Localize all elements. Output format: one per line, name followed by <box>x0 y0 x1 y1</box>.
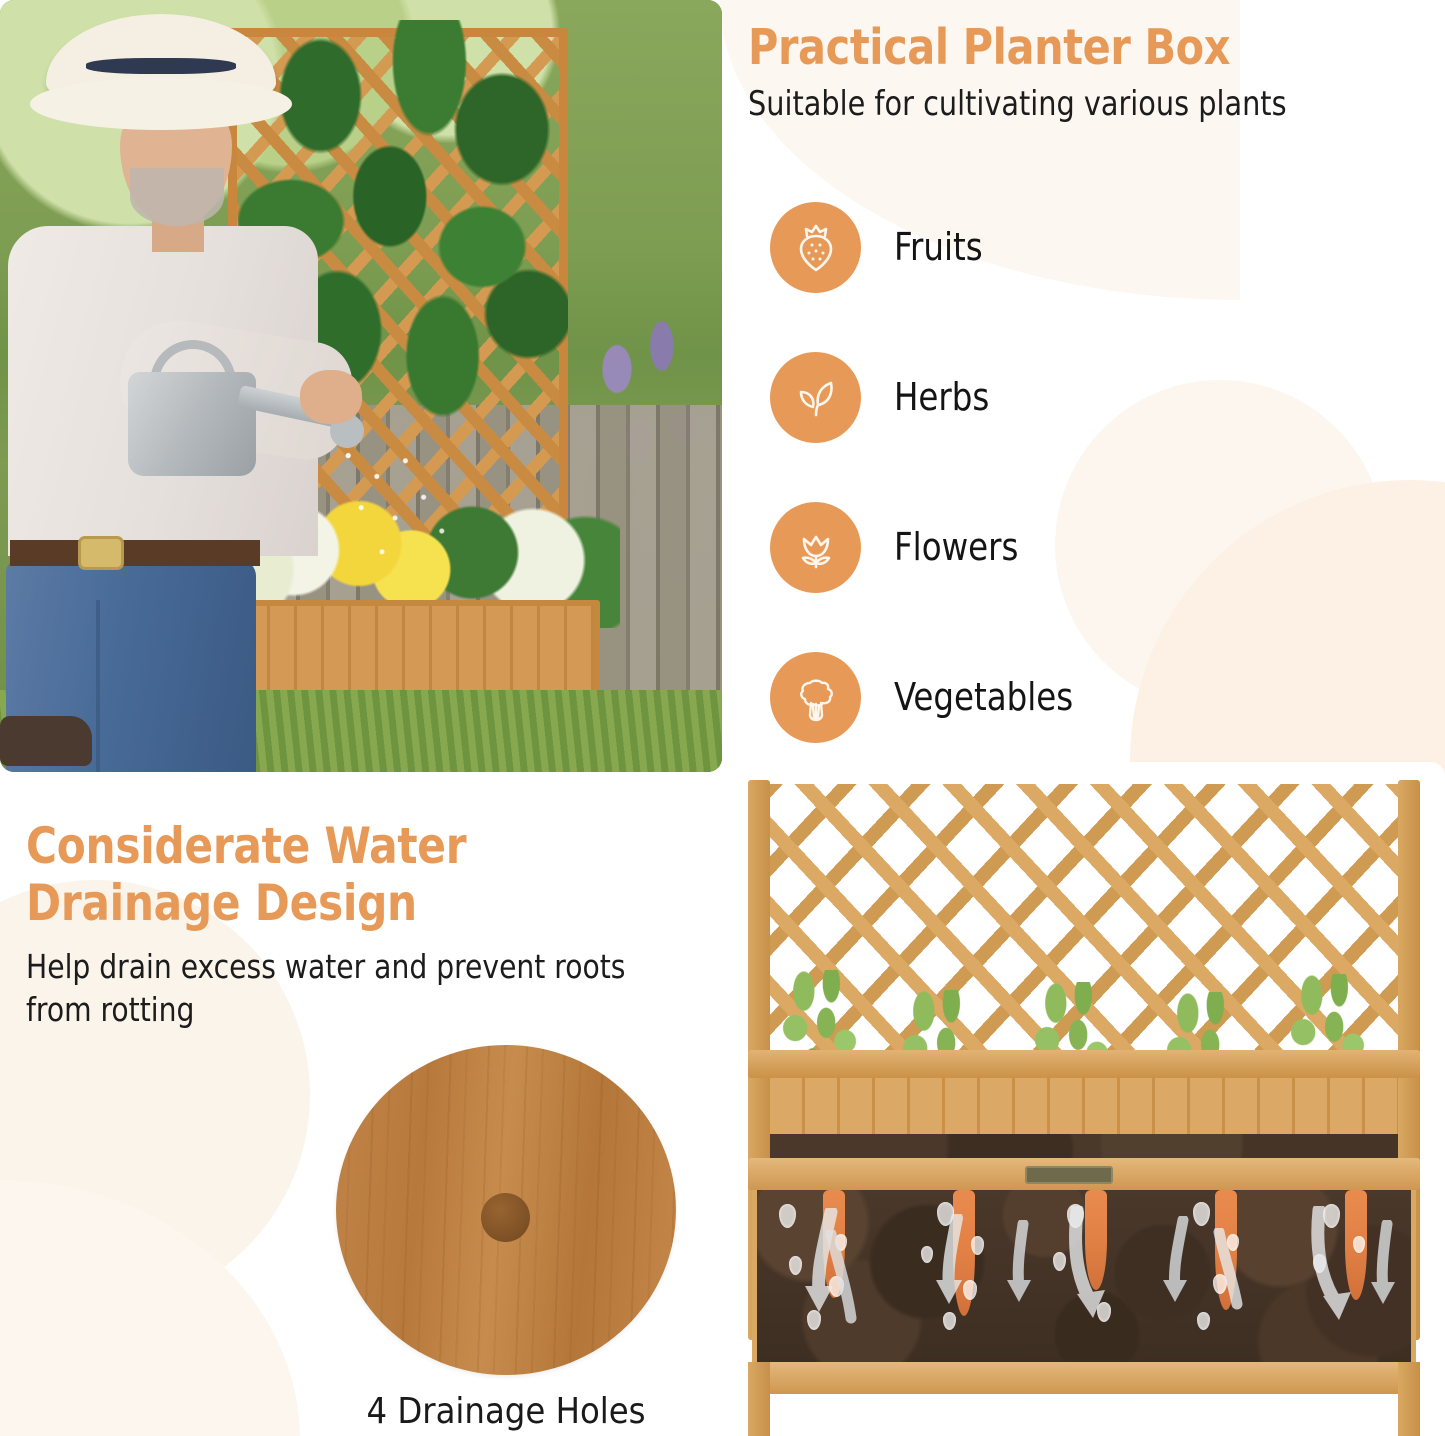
photo-person-hand <box>300 370 362 424</box>
drainage-hole <box>481 1193 530 1242</box>
water-flow-arrow <box>925 1214 995 1334</box>
practical-planter-section: Practical Planter Box Suitable for culti… <box>748 22 1438 124</box>
feature-row-fruits: Fruits <box>770 172 1083 322</box>
drainage-design-section: Considerate Water Drainage Design Help d… <box>26 818 716 1032</box>
section-title-drainage-line1: Considerate Water <box>26 818 675 875</box>
photo-person-shoe <box>0 716 92 766</box>
tulip-icon <box>770 502 861 593</box>
water-flow-arrow <box>1057 1206 1137 1346</box>
section-title-practical-planter: Practical Planter Box <box>748 22 1397 75</box>
feature-label-vegetables: Vegetables <box>894 675 1073 719</box>
water-flow-arrow <box>1361 1220 1431 1340</box>
wood-disc <box>336 1045 676 1375</box>
plant-type-feature-list: Fruits Herbs Flowers <box>770 172 1083 772</box>
lifestyle-photo <box>0 0 722 772</box>
planter-bottom-rail <box>748 1362 1420 1394</box>
feature-row-flowers: Flowers <box>770 472 1083 622</box>
strawberry-icon <box>770 202 861 293</box>
section-title-drainage-line2: Drainage Design <box>26 875 675 932</box>
water-flow-arrow <box>993 1220 1063 1340</box>
water-droplet <box>779 1204 796 1228</box>
water-flow-arrow <box>1205 1228 1275 1348</box>
planter-top-rail <box>748 1050 1420 1078</box>
photo-belt-buckle <box>78 536 124 570</box>
feature-label-flowers: Flowers <box>894 525 1018 569</box>
planter-leg-right <box>1398 1362 1420 1436</box>
photo-hat-brim <box>30 78 292 130</box>
section-subtitle-practical-planter: Suitable for cultivating various plants <box>748 85 1397 124</box>
soil-cross-section <box>752 1190 1416 1370</box>
feature-row-vegetables: Vegetables <box>770 622 1083 772</box>
photo-person-belt <box>10 540 260 566</box>
photo-water-spray <box>330 440 460 570</box>
photo-person-beard <box>130 168 224 226</box>
feature-label-fruits: Fruits <box>894 225 983 269</box>
product-illustration <box>730 762 1445 1436</box>
feature-label-herbs: Herbs <box>894 375 989 419</box>
photo-hat-band <box>86 58 236 74</box>
brand-nameplate <box>1025 1166 1113 1184</box>
drainage-hole-illustration: 4 Drainage Holes <box>336 1045 676 1432</box>
photo-watering-can <box>128 372 256 476</box>
planter-leg-left <box>748 1362 770 1436</box>
broccoli-icon <box>770 652 861 743</box>
feature-row-herbs: Herbs <box>770 322 1083 472</box>
planter-soil-surface <box>770 1134 1398 1160</box>
section-body-drainage: Help drain excess water and prevent root… <box>26 946 682 1032</box>
photo-jeans-seam <box>96 600 100 772</box>
leaf-sprout-icon <box>770 352 861 443</box>
drainage-hole-caption: 4 Drainage Holes <box>336 1391 676 1432</box>
water-flow-arrow <box>817 1230 887 1350</box>
